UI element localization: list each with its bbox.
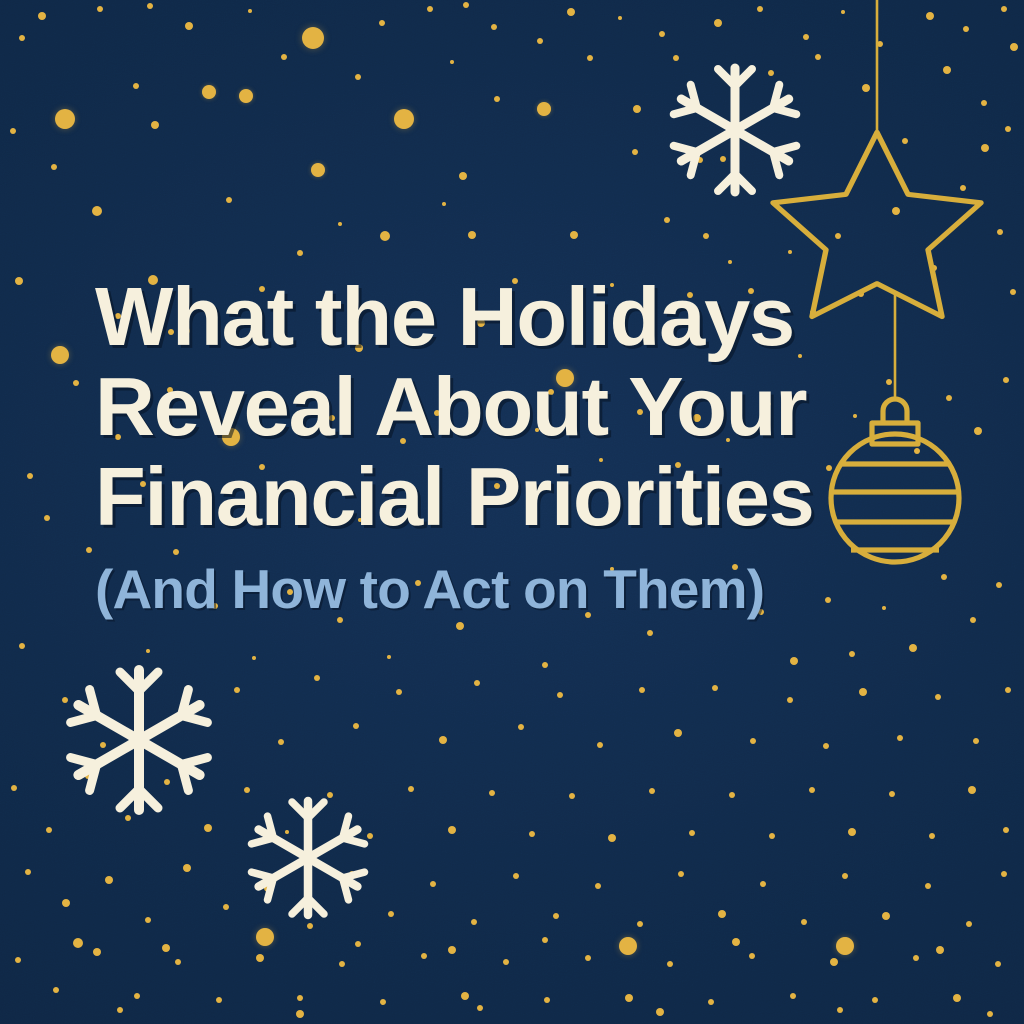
confetti-dot (44, 515, 50, 521)
confetti-dot (970, 617, 976, 623)
confetti-dot (117, 1007, 123, 1013)
confetti-dot (943, 66, 951, 74)
confetti-dot (183, 864, 191, 872)
confetti-dot (151, 121, 159, 129)
confetti-dot (216, 997, 222, 1003)
confetti-dot (882, 606, 886, 610)
confetti-dot (966, 921, 972, 927)
confetti-dot (835, 233, 841, 239)
confetti-dot (632, 149, 638, 155)
confetti-dot (202, 85, 216, 99)
confetti-dot (790, 657, 798, 665)
confetti-dot (62, 899, 70, 907)
confetti-dot (914, 448, 920, 454)
confetti-dot (649, 788, 655, 794)
confetti-dot (859, 688, 867, 696)
confetti-dot (1001, 6, 1007, 12)
text-block: What the Holidays Reveal About Your Fina… (95, 272, 835, 620)
confetti-dot (570, 231, 578, 239)
confetti-dot (608, 834, 616, 842)
confetti-dot (849, 651, 855, 657)
confetti-dot (625, 994, 633, 1002)
confetti-dot (19, 35, 25, 41)
confetti-dot (380, 231, 390, 241)
confetti-dot (557, 692, 563, 698)
confetti-dot (244, 787, 250, 793)
confetti-dot (394, 109, 414, 129)
snowflake-bottom-center-icon (252, 801, 365, 915)
confetti-dot (147, 3, 153, 9)
confetti-dot (656, 1008, 664, 1016)
confetti-dot (995, 961, 1001, 967)
confetti-dot (38, 12, 46, 20)
snowflake-top-right-icon (674, 68, 797, 192)
confetti-dot (587, 55, 593, 61)
confetti-dot (569, 793, 575, 799)
confetti-dot (125, 815, 131, 821)
confetti-dot (19, 643, 25, 649)
confetti-dot (92, 206, 102, 216)
confetti-dot (311, 163, 325, 177)
confetti-dot (146, 649, 150, 653)
confetti-dot (494, 96, 500, 102)
confetti-dot (491, 24, 497, 30)
confetti-dot (941, 574, 947, 580)
confetti-dot (53, 987, 59, 993)
confetti-dot (714, 19, 722, 27)
confetti-dot (15, 277, 23, 285)
confetti-dot (757, 6, 763, 12)
subheadline: (And How to Act on Them) (95, 558, 835, 620)
holiday-poster: What the Holidays Reveal About Your Fina… (0, 0, 1024, 1024)
confetti-dot (1001, 871, 1007, 877)
confetti-dot (338, 222, 342, 226)
confetti-dot (703, 233, 709, 239)
confetti-dot (380, 999, 386, 1005)
confetti-dot (595, 883, 601, 889)
confetti-dot (10, 128, 16, 134)
confetti-dot (633, 105, 641, 113)
confetti-dot (442, 202, 446, 206)
confetti-dot (981, 144, 989, 152)
confetti-dot (673, 55, 679, 61)
confetti-dot (981, 100, 987, 106)
confetti-dot (823, 743, 829, 749)
confetti-dot (997, 229, 1003, 235)
confetti-dot (349, 871, 355, 877)
confetti-dot (427, 6, 433, 12)
confetti-dot (430, 881, 436, 887)
confetti-dot (448, 946, 456, 954)
confetti-dot (387, 655, 391, 659)
confetti-dot (712, 685, 718, 691)
confetti-dot (278, 739, 284, 745)
confetti-dot (929, 833, 935, 839)
confetti-dot (708, 999, 714, 1005)
confetti-dot (285, 830, 289, 834)
confetti-dot (618, 16, 622, 20)
confetti-dot (963, 26, 969, 32)
confetti-dot (27, 473, 33, 479)
snowflake-bottom-left-icon (71, 670, 208, 810)
confetti-dot (1010, 289, 1016, 295)
confetti-dot (872, 997, 878, 1003)
confetti-dot (1010, 43, 1018, 51)
confetti-dot (926, 12, 934, 20)
confetti-dot (537, 102, 551, 116)
confetti-dot (1003, 827, 1009, 833)
confetti-dot (597, 742, 603, 748)
confetti-dot (567, 8, 575, 16)
confetti-dot (841, 10, 845, 14)
headline-line-2: Reveal About Your (95, 362, 835, 452)
confetti-dot (1005, 126, 1011, 132)
confetti-dot (239, 89, 253, 103)
confetti-dot (388, 911, 394, 917)
confetti-dot (974, 427, 982, 435)
confetti-dot (193, 704, 199, 710)
confetti-dot (62, 697, 68, 703)
confetti-dot (327, 792, 333, 798)
confetti-dot (15, 957, 21, 963)
confetti-dot (882, 912, 890, 920)
confetti-dot (471, 919, 477, 925)
confetti-dot (97, 6, 103, 12)
confetti-dot (674, 729, 682, 737)
confetti-dot (353, 723, 359, 729)
confetti-dot (858, 291, 864, 297)
confetti-dot (750, 738, 756, 744)
confetti-dot (553, 913, 559, 919)
confetti-dot (11, 785, 17, 791)
confetti-dot (960, 185, 966, 191)
confetti-dot (513, 873, 519, 879)
confetti-dot (909, 644, 917, 652)
confetti-dot (297, 995, 303, 1001)
confetti-dot (647, 630, 653, 636)
confetti-dot (256, 928, 274, 946)
confetti-dot (73, 938, 83, 948)
confetti-dot (902, 138, 908, 144)
confetti-dot (396, 689, 402, 695)
confetti-dot (619, 937, 637, 955)
confetti-dot (946, 395, 952, 401)
confetti-dot (809, 787, 815, 793)
confetti-dot (529, 831, 535, 837)
confetti-dot (769, 833, 775, 839)
confetti-dot (788, 250, 792, 254)
confetti-dot (697, 157, 703, 163)
confetti-dot (815, 54, 821, 60)
confetti-dot (145, 917, 151, 923)
confetti-dot (223, 904, 229, 910)
confetti-dot (667, 961, 673, 967)
confetti-dot (314, 675, 320, 681)
confetti-dot (889, 791, 895, 797)
confetti-dot (302, 27, 324, 49)
confetti-dot (728, 260, 732, 264)
confetti-dot (542, 662, 548, 668)
confetti-dot (355, 941, 361, 947)
confetti-dot (853, 414, 857, 418)
confetti-dot (459, 172, 467, 180)
confetti-dot (892, 207, 900, 215)
confetti-dot (175, 959, 181, 965)
confetti-dot (877, 41, 883, 47)
confetti-dot (1005, 687, 1011, 693)
confetti-dot (468, 231, 476, 239)
confetti-dot (234, 687, 240, 693)
confetti-dot (355, 74, 361, 80)
confetti-dot (585, 955, 591, 961)
confetti-dot (886, 379, 892, 385)
confetti-dot (248, 9, 252, 13)
confetti-dot (46, 827, 52, 833)
confetti-dot (718, 910, 726, 918)
confetti-dot (659, 31, 665, 37)
headline-line-3: Financial Priorities (95, 452, 835, 542)
confetti-dot (729, 792, 735, 798)
confetti-dot (790, 993, 796, 999)
confetti-dot (25, 869, 31, 875)
confetti-dot (448, 826, 456, 834)
confetti-dot (100, 742, 106, 748)
confetti-dot (439, 736, 447, 744)
confetti-dot (226, 197, 232, 203)
confetti-dot (93, 948, 101, 956)
confetti-dot (339, 961, 345, 967)
confetti-dot (134, 993, 140, 999)
confetti-dot (86, 547, 92, 553)
confetti-dot (803, 34, 809, 40)
confetti-dot (720, 156, 726, 162)
confetti-dot (913, 955, 919, 961)
confetti-dot (689, 830, 695, 836)
confetti-dot (830, 958, 838, 966)
confetti-dot (787, 697, 793, 703)
confetti-dot (749, 953, 755, 959)
confetti-dot (281, 54, 287, 60)
confetti-dot (105, 876, 113, 884)
confetti-dot (801, 919, 807, 925)
confetti-dot (678, 871, 684, 877)
confetti-dot (73, 380, 79, 386)
confetti-dot (477, 1005, 483, 1011)
confetti-dot (503, 959, 509, 965)
confetti-dot (379, 20, 385, 26)
confetti-dot (307, 923, 313, 929)
confetti-dot (973, 738, 979, 744)
confetti-dot (637, 921, 643, 927)
confetti-dot (1003, 377, 1009, 383)
confetti-dot (264, 884, 272, 892)
confetti-dot (931, 265, 937, 271)
confetti-dot (987, 1011, 993, 1017)
confetti-dot (639, 687, 645, 693)
confetti-dot (461, 992, 469, 1000)
confetti-dot (51, 346, 69, 364)
hanging-bauble-icon (831, 399, 959, 562)
confetti-dot (51, 164, 57, 170)
confetti-dot (732, 938, 740, 946)
confetti-dot (996, 582, 1002, 588)
confetti-dot (463, 2, 469, 8)
confetti-dot (55, 109, 75, 129)
confetti-dot (474, 680, 480, 686)
confetti-dot (489, 790, 495, 796)
confetti-dot (456, 622, 464, 630)
confetti-dot (518, 724, 524, 730)
confetti-dot (925, 883, 931, 889)
confetti-dot (537, 38, 543, 44)
confetti-dot (768, 70, 774, 76)
confetti-dot (252, 656, 256, 660)
confetti-dot (297, 250, 303, 256)
confetti-dot (862, 84, 870, 92)
confetti-dot (936, 946, 944, 954)
confetti-dot (953, 994, 961, 1002)
confetti-dot (897, 735, 903, 741)
confetti-dot (848, 828, 856, 836)
confetti-dot (542, 937, 548, 943)
confetti-dot (760, 881, 766, 887)
confetti-dot (164, 779, 170, 785)
confetti-dot (256, 954, 264, 962)
confetti-dot (544, 997, 550, 1003)
confetti-dot (842, 873, 848, 879)
confetti-dot (85, 773, 91, 779)
confetti-dot (133, 83, 139, 89)
confetti-dot (837, 1007, 843, 1013)
confetti-dot (836, 937, 854, 955)
confetti-dot (421, 953, 427, 959)
headline-line-1: What the Holidays (95, 272, 835, 362)
confetti-dot (296, 1010, 304, 1018)
confetti-dot (162, 944, 170, 952)
confetti-dot (935, 694, 941, 700)
confetti-dot (185, 22, 193, 30)
confetti-dot (968, 786, 976, 794)
confetti-dot (204, 824, 212, 832)
confetti-dot (367, 833, 373, 839)
confetti-dot (450, 60, 454, 64)
confetti-dot (664, 217, 670, 223)
confetti-dot (408, 786, 414, 792)
